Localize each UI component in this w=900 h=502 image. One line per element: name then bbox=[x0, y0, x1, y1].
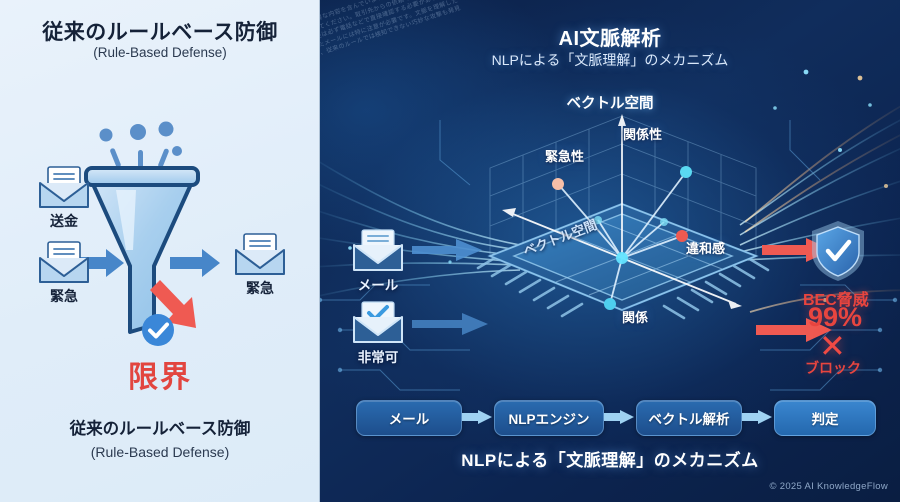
copyright-text: © 2025 AI KnowledgeFlow bbox=[770, 481, 888, 492]
envelope-icon bbox=[232, 232, 288, 276]
right-input-label-0: メール bbox=[340, 274, 416, 294]
flow-arrow-icon bbox=[742, 410, 772, 424]
right-panel-title: AI文脈解析 bbox=[320, 22, 900, 51]
envelope-icon bbox=[36, 240, 92, 284]
right-footer-caption: NLPによる「文脈理解」のメカニズム bbox=[320, 446, 900, 471]
vector-axis-label: 関係性 bbox=[623, 124, 662, 143]
input-arrow-icon bbox=[412, 238, 486, 262]
block-label: ブロック bbox=[805, 358, 861, 378]
envelope-check-icon bbox=[350, 300, 406, 344]
right-panel-subtitle: NLPによる「文脈理解」のメカニズム bbox=[320, 50, 900, 70]
ai-chip-graphic bbox=[450, 108, 790, 348]
left-panel-subtitle: (Rule-Based Defense) bbox=[0, 45, 320, 60]
funnel-output-arrow-icon bbox=[170, 249, 220, 277]
vector-space-title: ベクトル空間 bbox=[320, 92, 900, 113]
flow-step-nlp-engine[interactable]: NLPエンジン bbox=[494, 400, 604, 436]
limit-label: 限界 bbox=[0, 352, 320, 396]
flow-arrow-icon bbox=[604, 410, 634, 424]
envelope-icon bbox=[350, 228, 406, 272]
vector-point-label-0: 緊急性 bbox=[545, 146, 584, 165]
flow-step-judgement[interactable]: 判定 bbox=[774, 400, 876, 436]
left-footer-title: 従来のルールベース防御 bbox=[0, 415, 320, 439]
process-flow-bar: メール NLPエンジン ベクトル解析 判定 bbox=[320, 400, 900, 434]
right-input-label-1: 非常可 bbox=[338, 346, 418, 366]
flow-arrow-icon bbox=[462, 410, 492, 424]
vector-point-label-1: 違和感 bbox=[686, 238, 725, 257]
vector-point-urgency bbox=[552, 178, 564, 190]
left-input-label-0: 送金 bbox=[22, 211, 106, 231]
funnel-sparks-icon bbox=[100, 122, 183, 171]
input-arrow-icon bbox=[412, 312, 492, 336]
vector-point-label-2: 関係 bbox=[622, 307, 648, 326]
shield-check-icon bbox=[806, 218, 870, 284]
vector-point-relation bbox=[604, 298, 616, 310]
check-circle-icon bbox=[140, 312, 176, 348]
flow-step-vector-analysis[interactable]: ベクトル解析 bbox=[636, 400, 742, 436]
envelope-icon bbox=[36, 165, 92, 209]
left-panel-rule-based-defense: 従来のルールベース防御 (Rule-Based Defense) bbox=[0, 0, 320, 502]
infographic-root: 従来のルールベース防御 (Rule-Based Defense) bbox=[0, 0, 900, 502]
left-panel-title: 従来のルールベース防御 bbox=[0, 16, 320, 46]
flow-step-email[interactable]: メール bbox=[356, 400, 462, 436]
left-footer-subtitle: (Rule-Based Defense) bbox=[0, 444, 320, 460]
left-input-label-1: 緊急 bbox=[22, 286, 106, 306]
left-output-label: 緊急 bbox=[218, 278, 302, 298]
